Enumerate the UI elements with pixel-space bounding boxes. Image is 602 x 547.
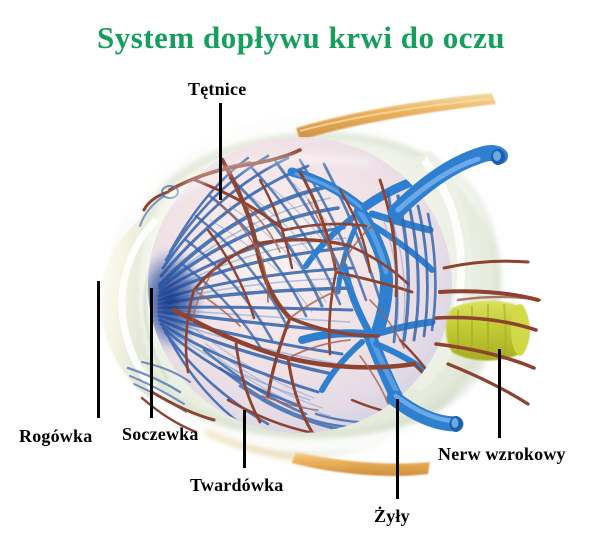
leader-line-tetnice — [219, 103, 222, 200]
leader-line-soczewka — [150, 288, 153, 418]
label-nerw-wzrokowy: Nerw wzrokowy — [438, 444, 566, 465]
label-zyly: Żyły — [374, 506, 410, 527]
label-twardowka: Twardówka — [190, 475, 283, 496]
leader-line-rogowka — [97, 281, 100, 418]
leader-line-zyly — [396, 399, 399, 499]
label-tetnice: Tętnice — [188, 79, 246, 100]
label-rogowka: Rogówka — [19, 426, 92, 447]
leader-line-nerw-wzrokowy — [498, 349, 501, 438]
label-soczewka: Soczewka — [122, 424, 199, 445]
leader-line-twardowka — [243, 410, 246, 468]
diagram-page: System dopływu krwi do oczu — [0, 0, 602, 547]
